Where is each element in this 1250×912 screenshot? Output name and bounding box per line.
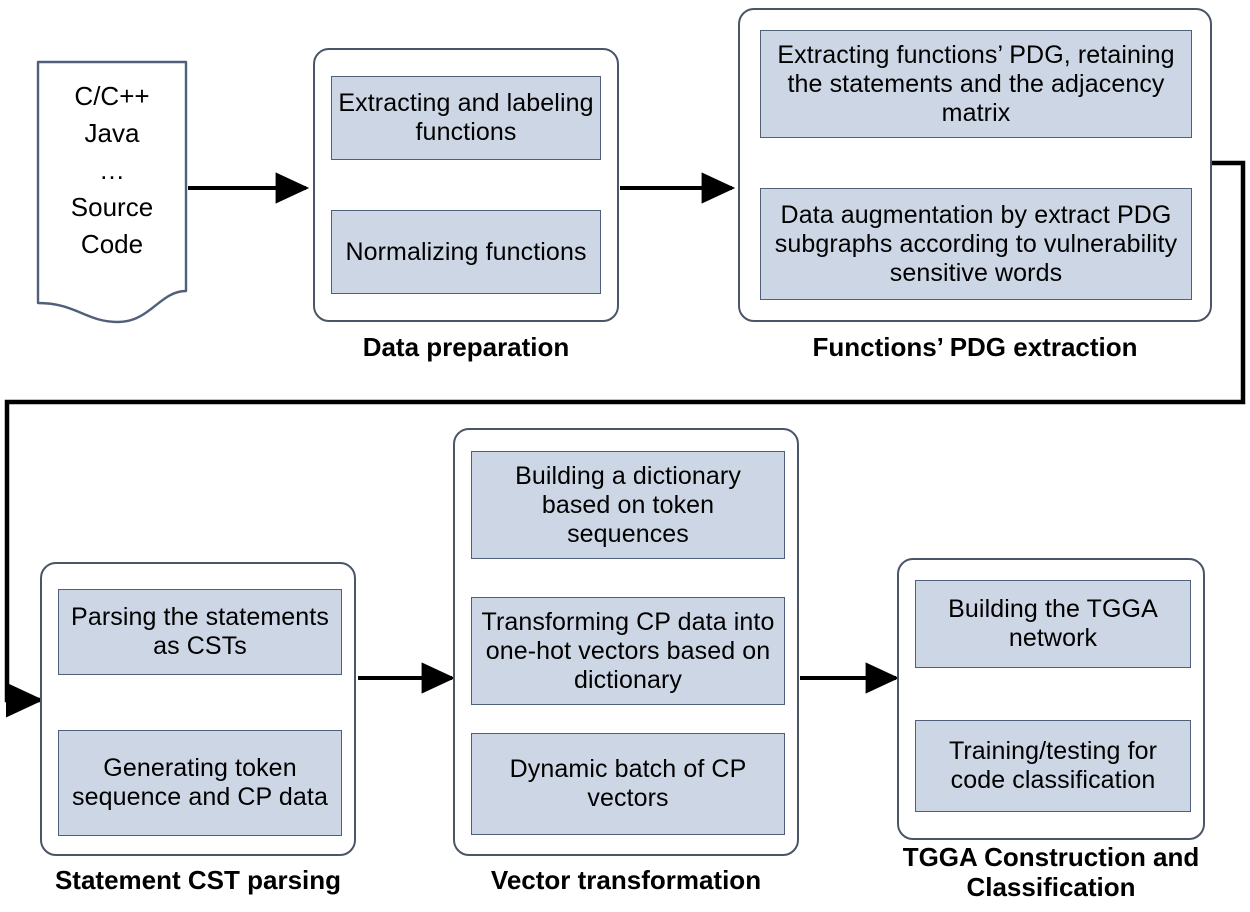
step-text: Extracting functions’ PDG, retaining the…	[761, 41, 1191, 128]
step-generating-token-sequence-and-cp-data[interactable]: Generating token sequence and CP data	[58, 730, 342, 836]
step-training-testing-for-code-classification[interactable]: Training/testing for code classification	[915, 720, 1191, 812]
step-text: Training/testing for code classification	[916, 737, 1190, 795]
stage-statement-cst-parsing[interactable]: Parsing the statements as CSTs Generatin…	[40, 562, 356, 856]
step-text: Building a dictionary based on token seq…	[472, 462, 784, 549]
source-code-text: C/C++ Java … Source Code	[38, 78, 186, 263]
step-building-the-tgga-network[interactable]: Building the TGGA network	[915, 580, 1191, 668]
source-code-line-0: C/C++	[38, 78, 186, 115]
step-transforming-cp-data-one-hot-vectors[interactable]: Transforming CP data into one-hot vector…	[471, 597, 785, 705]
stage-label-functions-pdg-extraction: Functions’ PDG extraction	[738, 333, 1212, 363]
stage-label-data-preparation: Data preparation	[313, 333, 619, 363]
stage-label-tgga-construction-and-classification: TGGA Construction and Classification	[881, 843, 1221, 902]
stage-label-vector-transformation: Vector transformation	[443, 866, 809, 896]
step-data-augmentation-pdg-subgraphs[interactable]: Data augmentation by extract PDG subgrap…	[760, 188, 1192, 300]
source-code-line-1: Java	[38, 115, 186, 152]
source-code-line-4: Code	[38, 226, 186, 263]
step-text: Transforming CP data into one-hot vector…	[472, 608, 784, 695]
stage-vector-transformation[interactable]: Building a dictionary based on token seq…	[453, 428, 799, 856]
step-extracting-and-labeling-functions[interactable]: Extracting and labeling functions	[331, 76, 601, 160]
step-text: Data augmentation by extract PDG subgrap…	[761, 201, 1191, 288]
stage-functions-pdg-extraction[interactable]: Extracting functions’ PDG, retaining the…	[738, 8, 1212, 322]
step-parsing-statements-as-csts[interactable]: Parsing the statements as CSTs	[58, 589, 342, 675]
step-text: Generating token sequence and CP data	[59, 754, 341, 812]
stage-data-preparation[interactable]: Extracting and labeling functions Normal…	[313, 48, 619, 322]
step-text: Extracting and labeling functions	[332, 89, 600, 147]
flowchart-canvas: C/C++ Java … Source Code Extracting and …	[0, 0, 1250, 912]
step-text: Parsing the statements as CSTs	[59, 603, 341, 661]
stage-label-statement-cst-parsing: Statement CST parsing	[20, 866, 376, 896]
step-dynamic-batch-of-cp-vectors[interactable]: Dynamic batch of CP vectors	[471, 733, 785, 835]
stage-tgga-construction-and-classification[interactable]: Building the TGGA network Training/testi…	[897, 558, 1205, 840]
step-extracting-functions-pdg[interactable]: Extracting functions’ PDG, retaining the…	[760, 30, 1192, 138]
source-code-line-3: Source	[38, 189, 186, 226]
step-normalizing-functions[interactable]: Normalizing functions	[331, 210, 601, 294]
step-text: Building the TGGA network	[916, 595, 1190, 653]
step-text: Dynamic batch of CP vectors	[472, 755, 784, 813]
source-code-line-2: …	[38, 152, 186, 189]
step-building-dictionary-token-sequences[interactable]: Building a dictionary based on token seq…	[471, 451, 785, 559]
step-text: Normalizing functions	[339, 238, 592, 267]
